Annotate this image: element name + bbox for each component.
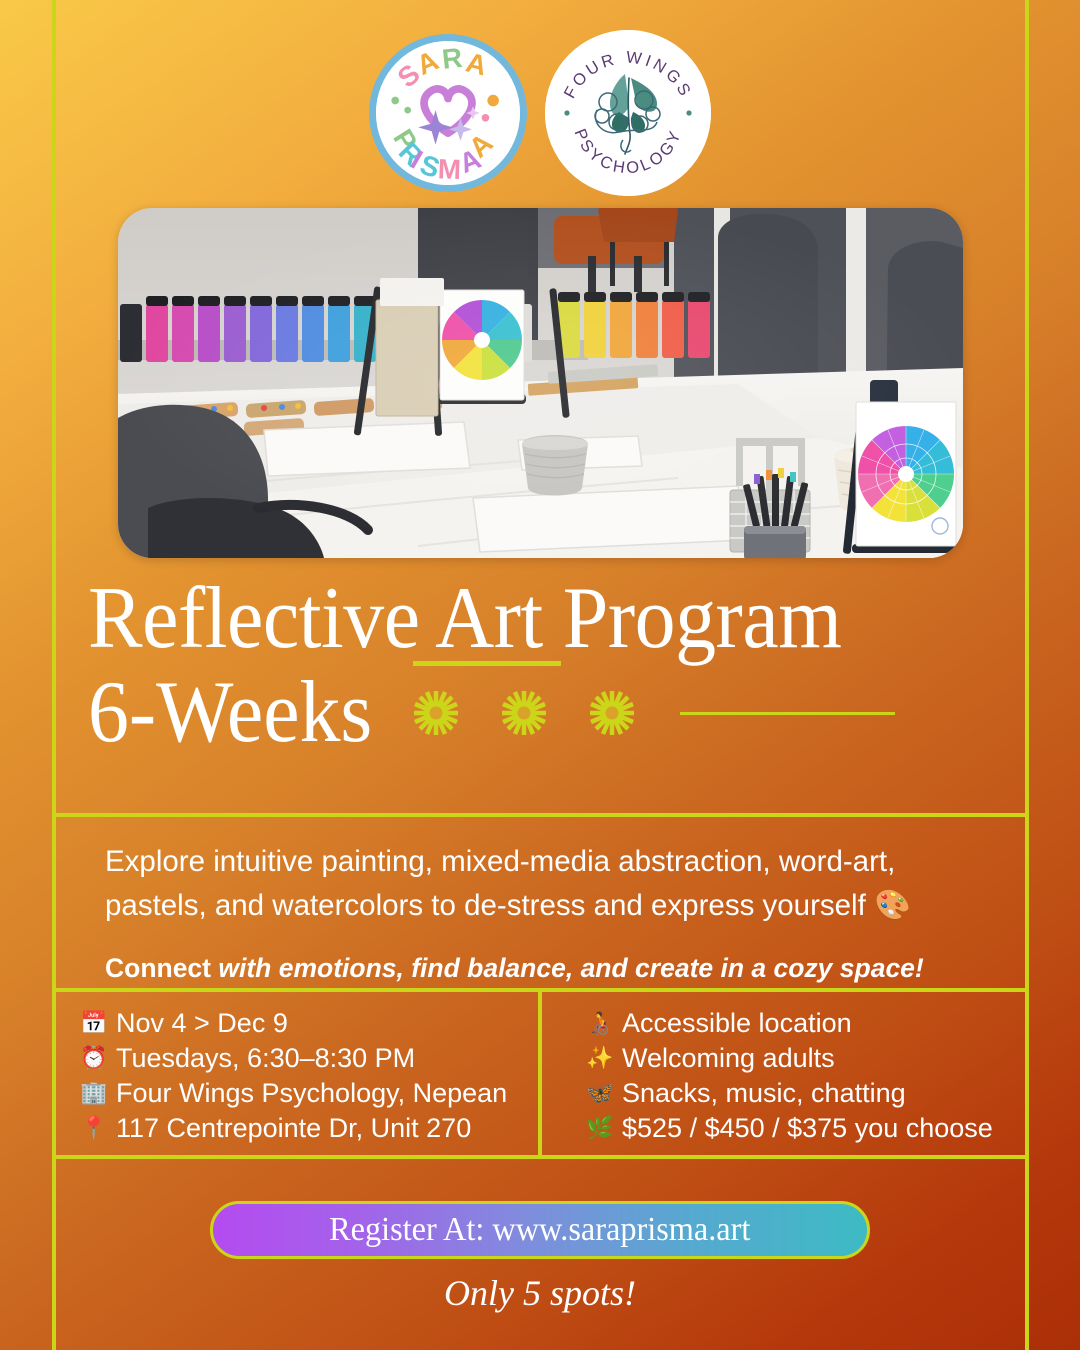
description-emphasis-bold: Connect <box>105 953 211 983</box>
details-block: 📅 Nov 4 > Dec 9 ⏰ Tuesdays, 6:30–8:30 PM… <box>52 992 1029 1155</box>
flower-asterisk-icon <box>412 689 460 737</box>
detail-venue-text: Four Wings Psychology, Nepean <box>116 1078 507 1109</box>
description-block: Explore intuitive painting, mixed-media … <box>105 840 1005 984</box>
spots-remaining-text: Only 5 spots! <box>0 1272 1080 1314</box>
poster-root: S A R A P R I <box>0 0 1080 1350</box>
detail-time-text: Tuesdays, 6:30–8:30 PM <box>116 1043 415 1074</box>
detail-row: 🌿 $525 / $450 / $375 you choose <box>586 1111 1024 1145</box>
flower-accent-group <box>412 689 636 737</box>
flower-asterisk-icon <box>588 689 636 737</box>
herb-leaf-icon: 🌿 <box>586 1117 614 1139</box>
detail-row: ⏰ Tuesdays, 6:30–8:30 PM <box>80 1041 538 1075</box>
details-column-left: 📅 Nov 4 > Dec 9 ⏰ Tuesdays, 6:30–8:30 PM… <box>52 992 538 1155</box>
butterfly-icon: 🦋 <box>586 1082 614 1104</box>
sara-prisma-logo: S A R A P R I <box>369 34 527 192</box>
register-button-label: Register At: www.saraprisma.art <box>329 1211 750 1249</box>
description-body: Explore intuitive painting, mixed-media … <box>105 840 1005 927</box>
detail-row: 🏢 Four Wings Psychology, Nepean <box>80 1076 538 1110</box>
workshop-photo <box>118 208 963 558</box>
detail-row: 🧑‍🦽 Accessible location <box>586 1006 1024 1040</box>
calendar-icon: 📅 <box>80 1012 108 1034</box>
description-emphasis: Connect with emotions, find balance, and… <box>105 953 1005 984</box>
detail-row: 📍 117 Centrepointe Dr, Unit 270 <box>80 1111 538 1145</box>
title-underline-accent <box>413 661 561 666</box>
register-button[interactable]: Register At: www.saraprisma.art <box>210 1201 870 1259</box>
details-column-right: 🧑‍🦽 Accessible location ✨ Welcoming adul… <box>538 992 1024 1155</box>
detail-dates-text: Nov 4 > Dec 9 <box>116 1008 288 1039</box>
detail-row: 📅 Nov 4 > Dec 9 <box>80 1006 538 1040</box>
page-title-line1: Reflective Art Program <box>88 575 934 663</box>
building-icon: 🏢 <box>80 1082 108 1104</box>
detail-audience-text: Welcoming adults <box>622 1043 835 1074</box>
svg-text:R: R <box>441 42 464 75</box>
title-block: Reflective Art Program 6-Weeks <box>88 575 998 757</box>
sparkles-icon: ✨ <box>586 1047 614 1069</box>
alarm-clock-icon: ⏰ <box>80 1047 108 1069</box>
workshop-photo-art <box>118 208 963 558</box>
detail-amenities-text: Snacks, music, chatting <box>622 1078 906 1109</box>
map-pin-icon: 📍 <box>80 1117 108 1139</box>
wheelchair-person-icon: 🧑‍🦽 <box>586 1012 614 1034</box>
title-rule-accent <box>680 712 895 715</box>
detail-row: 🦋 Snacks, music, chatting <box>586 1076 1024 1110</box>
sara-prisma-logo-art: S A R A P R I <box>376 38 520 188</box>
four-wings-logo-art: FOUR WINGS PSYCHOLOGY <box>545 30 711 196</box>
description-emphasis-italic: with emotions, find balance, and create … <box>211 953 924 983</box>
divider-rule-top <box>52 813 1029 817</box>
logo-row: S A R A P R I <box>0 30 1080 196</box>
flower-asterisk-icon <box>500 689 548 737</box>
page-title-line2: 6-Weeks <box>88 669 372 757</box>
detail-accessibility-text: Accessible location <box>622 1008 852 1039</box>
four-wings-psychology-logo: FOUR WINGS PSYCHOLOGY <box>545 30 711 196</box>
title-line2-row: 6-Weeks <box>88 669 998 757</box>
detail-pricing-text: $525 / $450 / $375 you choose <box>622 1113 993 1144</box>
detail-address-text: 117 Centrepointe Dr, Unit 270 <box>116 1113 471 1144</box>
detail-row: ✨ Welcoming adults <box>586 1041 1024 1075</box>
